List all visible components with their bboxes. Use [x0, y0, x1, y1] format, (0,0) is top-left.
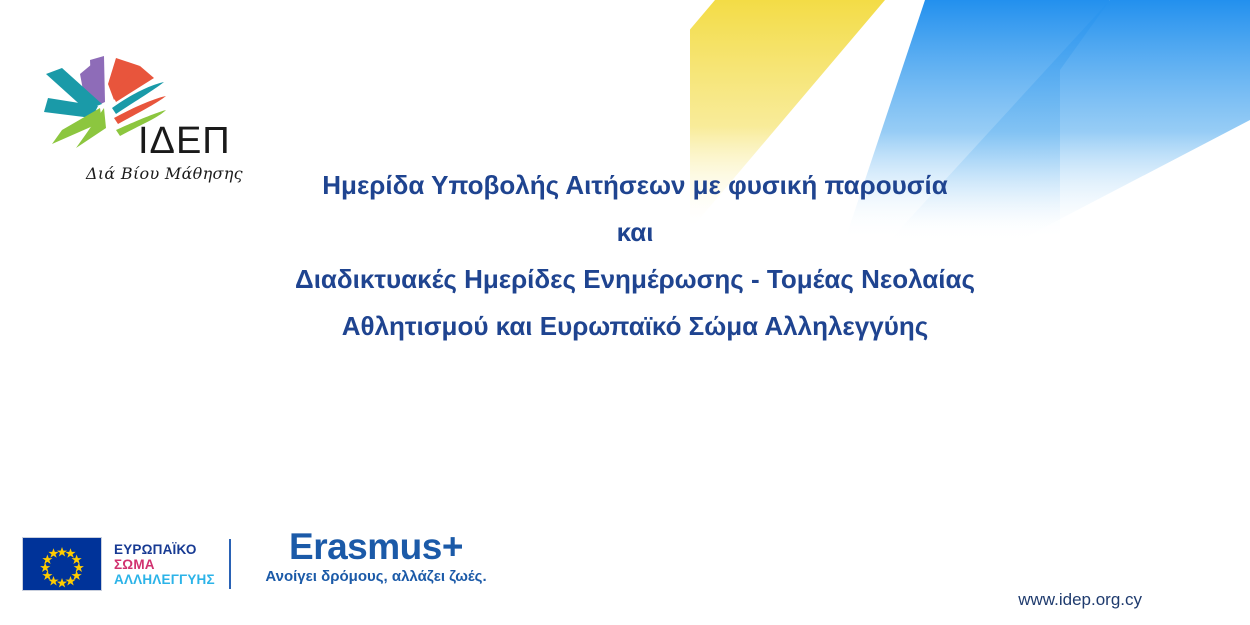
esc-line-2: ΣΩΜΑ — [114, 557, 215, 572]
logo-divider — [229, 539, 231, 589]
slide-title: Ημερίδα Υποβολής Αιτήσεων με φυσική παρο… — [170, 162, 1100, 350]
eu-flag-icon — [22, 537, 102, 591]
esc-line-1: ΕΥΡΩΠΑΪΚΟ — [114, 542, 215, 557]
idep-wordmark: ΙΔΕΠ — [138, 122, 231, 160]
title-line-4: Αθλητισμού και Ευρωπαϊκό Σώμα Αλληλεγγύη… — [170, 303, 1100, 350]
esc-wordmark: ΕΥΡΩΠΑΪΚΟ ΣΩΜΑ ΑΛΛΗΛΕΓΓΥΗΣ — [114, 542, 215, 587]
presentation-slide: ΙΔΕΠ Διά Βίου Μάθησης Ημερίδα Υποβολής Α… — [0, 0, 1250, 625]
title-line-1: Ημερίδα Υποβολής Αιτήσεων με φυσική παρο… — [170, 162, 1100, 209]
erasmus-tagline: Ανοίγει δρόμους, αλλάζει ζωές. — [248, 568, 504, 585]
title-line-3: Διαδικτυακές Ημερίδες Ενημέρωσης - Τομέα… — [170, 256, 1100, 303]
esc-line-3: ΑΛΛΗΛΕΓΓΥΗΣ — [114, 572, 215, 587]
european-solidarity-corps-logo: ΕΥΡΩΠΑΪΚΟ ΣΩΜΑ ΑΛΛΗΛΕΓΓΥΗΣ — [22, 536, 231, 592]
title-line-2: και — [170, 209, 1100, 256]
website-url: www.idep.org.cy — [1018, 590, 1142, 610]
erasmus-plus-logo: Erasmus+ Ανοίγει δρόμους, αλλάζει ζωές. — [248, 528, 504, 585]
erasmus-wordmark: Erasmus+ — [248, 528, 504, 566]
